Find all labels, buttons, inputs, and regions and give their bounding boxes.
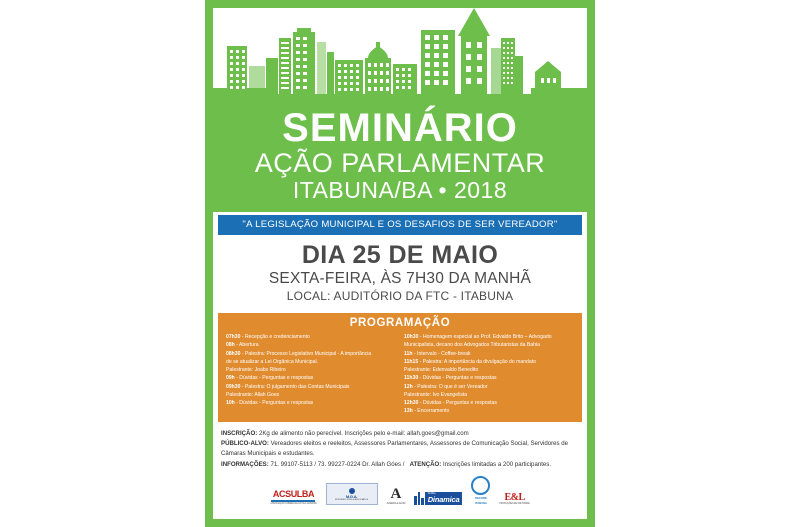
info-block: INSCRIÇÃO: 2Kg de alimento não perecível… [213,422,587,473]
programme-line: 08h - Abertura [226,341,396,349]
city-year-line: ITABUNA/BA • 2018 [213,177,587,203]
mga-plate: M.G.A. MONTEIRO GÓES & ASSOCIADOS [326,483,378,505]
programme-line: 11h15 - Palestra: A importância da divul… [404,358,574,366]
programme-time: 12h [404,384,413,390]
dinamica-lockup: Gráfica Dinamica [414,492,462,505]
title-block: SEMINÁRIO AÇÃO PARLAMENTAR ITABUNA/BA • … [213,104,587,212]
almeida-alvim-monogram-icon: A [390,488,401,502]
programme-line: Municipalista, decano dos Advogados Trib… [404,341,574,349]
programme-text: - Palestra: A importância da divulgação … [418,359,536,365]
programme-text: - Homenagem especial ao Prof. Edvaldo Br… [418,334,551,340]
inscricao-line: INSCRIÇÃO: 2Kg de alimento não perecível… [221,429,579,439]
publico-alvo-label: PÚBLICO-ALVO: [221,440,269,447]
publico-alvo-line: PÚBLICO-ALVO: Vereadores eleitos e reele… [221,439,579,460]
programme-time: 11h15 [404,359,418,365]
atencao-text: Inscrições limitadas a 200 participantes… [443,461,551,468]
publico-alvo-text: Vereadores eleitos e reeleitos, Assessor… [221,440,568,457]
dinamica-name: Dinamica [428,495,460,504]
programme-text: - Intervalo - Coffee-break [413,351,471,357]
page-title: SEMINÁRIO [213,108,587,149]
programme-block: PROGRAMAÇÃO 07h30 - Recepção e credencia… [218,313,582,422]
programme-time: 08h [226,342,235,348]
programme-line: 12h - Palestra: O que é ser Vereador [404,383,574,391]
event-venue: LOCAL: AUDITÓRIO DA FTC - ITABUNA [213,289,587,305]
programme-line: 13h - Encerramento [404,407,574,415]
record-wordmark: RECORD [475,496,487,500]
programme-line: 10h30 - Homenagem especial ao Prof. Edva… [404,333,574,341]
el-wordmark: E&L [504,492,524,503]
sponsor-logo-almeida-alvim: A ALMEIDA & ALVIM [387,488,406,506]
programme-wrap: PROGRAMAÇÃO 07h30 - Recepção e credencia… [213,313,587,422]
programme-right-column: 10h30 - Homenagem especial ao Prof. Edva… [404,333,574,416]
informacoes-text: 71. 99107-5113 / 73. 99227-0224 Dr. Alla… [270,461,404,468]
el-tagline: PRODUÇÕES DE SOFTWARE [499,503,529,505]
programme-text: - Palestra: Processo Legislativo Municip… [240,351,371,357]
programme-left-column: 07h30 - Recepção e credenciamento08h - A… [226,333,396,416]
sponsor-logo-mga: M.G.A. MONTEIRO GÓES & ASSOCIADOS [326,483,378,505]
programme-time: 11h30 [404,375,418,381]
poster-background: SEMINÁRIO AÇÃO PARLAMENTAR ITABUNA/BA • … [205,0,595,527]
programme-line: 07h30 - Recepção e credenciamento [226,333,396,341]
acsulba-wordmark: ACSULBA [273,489,314,499]
sponsor-logo-dinamica: Gráfica Dinamica [414,492,462,505]
programme-line: 09h30 - Palestra: O julgamento das Conta… [226,383,396,391]
dinamica-bars-icon [414,492,424,505]
programme-line: Palestrante: Allah Goes [226,391,396,399]
programme-line: de se atualizar a Lei Orgânica Municipal… [226,358,396,366]
atencao-label: ATENÇÃO: [410,461,442,468]
programme-line: Palestrante: Ivo Evangelista [404,391,574,399]
sponsor-logo-acsulba: ACSULBA ASSOCIAÇÃO COMERCIAL DO SUL DA B… [270,489,316,505]
inscricao-text: 2Kg de alimento não perecível. Inscriçõe… [259,430,469,437]
programme-time: 09h [226,375,235,381]
programme-time: 09h30 [226,384,240,390]
event-weekday-time: SEXTA-FEIRA, ÀS 7H30 DA MANHÃ [213,269,587,288]
programme-time: 13h [404,408,413,414]
programme-time: 07h30 [226,334,240,340]
skyline-svg [213,8,587,104]
date-venue-block: DIA 25 DE MAIO SEXTA-FEIRA, ÀS 7H30 DA M… [213,235,587,313]
programme-line: Palestrante: Edenvaldo Benedito [404,366,574,374]
programme-text: - Dúvidas - Perguntas e respostas [235,375,313,381]
event-date: DIA 25 DE MAIO [213,242,587,270]
programme-text: - Dúvidas - Perguntas e respostas [418,375,496,381]
programme-text: - Dúvidas - Perguntas e respostas [418,400,496,406]
programme-text: - Palestra: O julgamento das Contas Muni… [240,384,349,390]
theme-banner-wrap: "A LEGISLAÇÃO MUNICIPAL E OS DESAFIOS DE… [213,212,587,235]
sponsor-logo-el: E&L PRODUÇÕES DE SOFTWARE [499,492,529,505]
record-tagline: ITABUNA [475,501,487,505]
programme-line: 11h30 - Dúvidas - Perguntas e respostas [404,374,574,382]
theme-banner: "A LEGISLAÇÃO MUNICIPAL E OS DESAFIOS DE… [218,215,582,235]
almeida-alvim-wordmark: ALMEIDA & ALVIM [387,502,406,505]
programme-time: 10h [226,400,235,406]
programme-line: 08h30 - Palestra: Processo Legislativo M… [226,350,396,358]
programme-text: - Recepção e credenciamento [240,334,309,340]
sponsor-logo-record: RECORD ITABUNA [471,476,490,505]
page-subtitle: AÇÃO PARLAMENTAR [213,149,587,177]
programme-text: - Encerramento [413,408,450,414]
programme-line: Palestrante: Joabs Ribeiro [226,366,396,374]
city-skyline-illustration [213,8,587,104]
poster-card: SEMINÁRIO AÇÃO PARLAMENTAR ITABUNA/BA • … [213,8,587,519]
programme-text: - Palestra: O que é ser Vereador [413,384,488,390]
programme-time: 11h [404,351,413,357]
programme-title: PROGRAMAÇÃO [218,316,582,333]
programme-text: - Abertura [235,342,259,348]
dinamica-wordmark: Gráfica Dinamica [425,492,463,505]
programme-line: 11h - Intervalo - Coffee-break [404,350,574,358]
programme-time: 10h30 [404,334,418,340]
programme-time: 12h30 [404,400,418,406]
informacoes-line: INFORMAÇÕES: 71. 99107-5113 / 73. 99227-… [221,460,579,470]
record-ring-icon [471,476,490,495]
mga-tagline: MONTEIRO GÓES & ASSOCIADOS [335,499,368,501]
informacoes-label: INFORMAÇÕES: [221,461,269,468]
programme-columns: 07h30 - Recepção e credenciamento08h - A… [218,333,582,416]
programme-text: - Dúvidas - Perguntas e respostas [235,400,313,406]
programme-line: 09h - Dúvidas - Perguntas e respostas [226,374,396,382]
inscricao-label: INSCRIÇÃO: [221,430,257,437]
sponsor-logos: ACSULBA ASSOCIAÇÃO COMERCIAL DO SUL DA B… [213,472,587,509]
programme-line: 12h30 - Dúvidas - Perguntas e respostas [404,399,574,407]
programme-line: 10h - Dúvidas - Perguntas e respostas [226,399,396,407]
programme-time: 08h30 [226,351,240,357]
acsulba-tagline: ASSOCIAÇÃO COMERCIAL DO SUL DA BAHIA [270,503,316,505]
